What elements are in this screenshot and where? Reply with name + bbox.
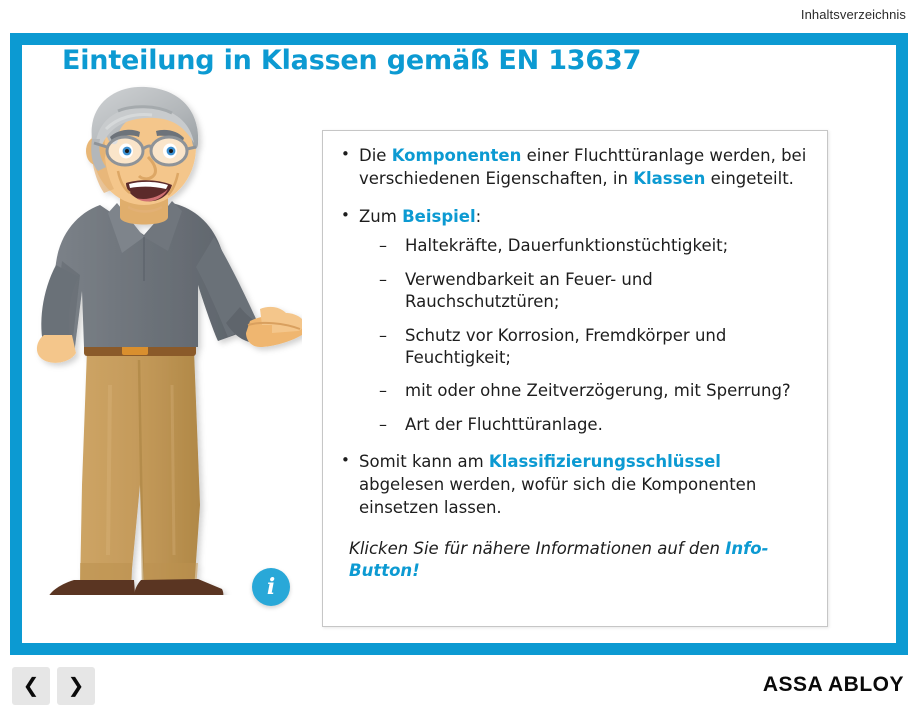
bullet-text-part: abgelesen werden, wofür sich die Kompone… [359,475,756,517]
sub-bullet-item: Art der Fluchttüranlage. [359,414,811,436]
bullet-text-part: eingeteilt. [705,169,794,188]
sub-bullet-item: Schutz vor Korrosion, Fremdkörper und Fe… [359,325,811,370]
bullet-item: Die Komponenten einer Fluchttüranlage we… [337,145,811,191]
previous-slide-button[interactable]: ❮ [12,667,50,705]
footer-bar: ❮ ❯ ASSA ABLOY [0,655,920,719]
bullet-item: Somit kann am Klassifizierungsschlüssel … [337,451,811,519]
right-hand [246,307,302,347]
bullet-list: Die Komponenten einer Fluchttüranlage we… [337,145,811,520]
brand-logo: ASSA ABLOY [763,673,904,697]
info-button[interactable]: i [252,568,290,606]
presenter-illustration [22,85,302,595]
info-note: Klicken Sie für nähere Informationen auf… [337,538,811,583]
chevron-right-icon: ❯ [57,667,95,705]
table-of-contents-link[interactable]: Inhaltsverzeichnis [801,7,906,22]
bullet-text-part: Somit kann am [359,452,489,471]
sub-bullet-item: Haltekräfte, Dauerfunktionstüchtigkeit; [359,235,811,257]
bullet-text-highlight: Klassen [633,169,705,188]
sub-bullet-item: Verwendbarkeit an Feuer- und Rauchschutz… [359,269,811,314]
top-bar: Inhaltsverzeichnis [0,0,920,33]
bullet-item: Zum Beispiel: Haltekräfte, Dauerfunktion… [337,206,811,437]
page-title: Einteilung in Klassen gemäß EN 13637 [62,45,641,76]
bullet-text-part: Zum [359,207,402,226]
bullet-text-part: : [476,207,482,226]
bullet-text-part: Die [359,146,392,165]
info-icon: i [252,568,290,606]
note-exclamation: ! [412,561,420,580]
bullet-text-highlight: Beispiel [402,207,476,226]
right-shoe [134,579,223,595]
bullet-text-highlight: Komponenten [392,146,522,165]
content-panel: Die Komponenten einer Fluchttüranlage we… [322,130,828,627]
chevron-left-icon: ❮ [12,667,50,705]
sub-bullet-list: Haltekräfte, Dauerfunktionstüchtigkeit; … [359,235,811,436]
bullet-text-highlight: Klassifizierungsschlüssel [489,452,721,471]
sub-bullet-item: mit oder ohne Zeitverzögerung, mit Sperr… [359,380,811,402]
next-slide-button[interactable]: ❯ [57,667,95,705]
left-shoe [47,580,135,595]
note-text-part: Klicken Sie für nähere Informationen auf… [349,539,725,558]
left-hand [37,335,76,363]
